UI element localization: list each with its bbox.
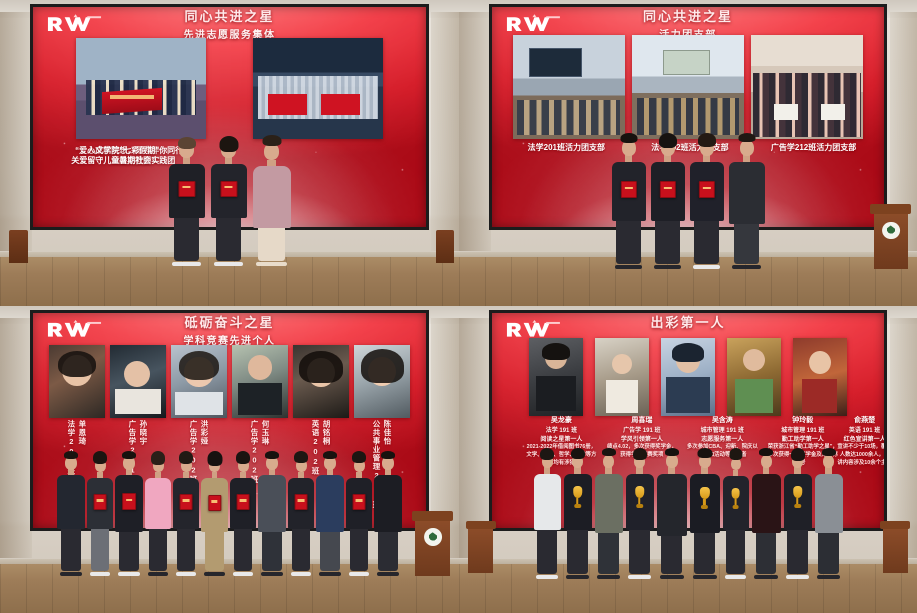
school-logo	[504, 11, 563, 35]
awardee	[784, 450, 812, 579]
profile-name: 俞燕楚	[837, 416, 887, 426]
school-emblem	[882, 222, 900, 240]
school-logo	[45, 11, 104, 35]
awardee	[87, 453, 113, 576]
awardee	[173, 453, 199, 576]
awardee	[145, 453, 171, 576]
awardee	[612, 135, 646, 270]
portrait-photo	[595, 338, 650, 415]
side-chair	[436, 230, 454, 264]
panel-3-awardees	[0, 453, 459, 576]
portrait-photo	[793, 338, 848, 415]
classroom-photo	[513, 35, 625, 139]
profile-affiliation: 城市管理 191 班	[686, 427, 759, 436]
portrait-photo	[529, 338, 584, 415]
awardee	[201, 453, 228, 576]
profile-affiliation: 英语 191 班	[837, 427, 887, 436]
group-photo	[751, 35, 863, 139]
presenter	[253, 138, 291, 267]
presenter	[752, 450, 781, 579]
podium-top	[466, 521, 496, 529]
school-logo	[504, 317, 563, 341]
panel-2-photo-strip	[507, 35, 868, 139]
portrait-photo	[727, 338, 782, 415]
panel-4-awardees	[459, 450, 917, 579]
profile-name: 钟玲毅	[766, 416, 839, 426]
portrait-photo	[232, 345, 289, 418]
awardee	[169, 138, 205, 267]
profile-affiliation: 法学 191 班	[525, 427, 598, 436]
classroom-photo	[632, 35, 744, 139]
awardee	[564, 450, 592, 579]
panel-4-bottom-right: 出彩第一人	[459, 306, 917, 613]
awardee	[651, 135, 685, 270]
profile-name: 周喜瑞	[606, 416, 679, 426]
awardee	[690, 135, 724, 270]
school-emblem	[424, 528, 442, 546]
presenter	[657, 450, 687, 579]
profile-affiliation: 城市管理 191 班	[766, 427, 839, 436]
panel-3-portrait-strip	[49, 345, 411, 418]
portrait-photo	[49, 345, 106, 418]
podium-top	[412, 511, 453, 521]
panel-1-top-left: 同心共进之星 先进志愿服务集体 “爱心成就梦想，阳光伴你同行” 公益支教团	[0, 0, 459, 306]
school-logo	[45, 317, 104, 341]
profile-affiliation: 广告学 191 班	[606, 427, 679, 436]
presenter	[316, 453, 344, 576]
portrait-photo	[354, 345, 411, 418]
four-panel-photo-grid: 同心共进之星 先进志愿服务集体 “爱心成就梦想，阳光伴你同行” 公益支教团	[0, 0, 917, 613]
profile-name: 吴含涛	[686, 416, 759, 426]
presenter	[595, 450, 623, 579]
presenter	[57, 453, 85, 576]
portrait-photo	[110, 345, 167, 418]
panel-2-top-right: 同心共进之星 活力团支部	[459, 0, 917, 306]
presenter	[534, 450, 561, 579]
awardee	[211, 138, 247, 267]
podium	[883, 524, 908, 573]
awardee	[115, 453, 143, 576]
panel-4-portrait-strip	[527, 338, 849, 415]
awardee	[346, 453, 372, 576]
podium	[468, 524, 493, 573]
portrait-photo	[171, 345, 228, 418]
presenter	[258, 453, 286, 576]
podium-top	[880, 521, 910, 529]
award-photo	[253, 38, 384, 139]
portrait-photo	[661, 338, 716, 415]
profile-name: 吴龙豪	[525, 416, 598, 426]
panel-3-bottom-left: 砥砺奋斗之星 学科竞赛先进个人	[0, 306, 459, 613]
panel-1-awardees	[0, 138, 459, 267]
presenter	[815, 450, 843, 579]
presenter	[729, 135, 765, 270]
podium	[874, 208, 908, 269]
podium	[415, 515, 449, 576]
awardee	[690, 450, 720, 579]
award-photo	[76, 38, 207, 139]
awardee	[626, 450, 654, 579]
podium-top	[870, 204, 911, 214]
presenter	[374, 453, 402, 576]
panel-1-photo-strip	[52, 38, 406, 139]
portrait-photo	[293, 345, 350, 418]
side-chair	[9, 230, 27, 264]
awardee	[230, 453, 256, 576]
panel-2-awardees	[459, 135, 917, 270]
awardee	[723, 450, 749, 579]
awardee	[288, 453, 314, 576]
